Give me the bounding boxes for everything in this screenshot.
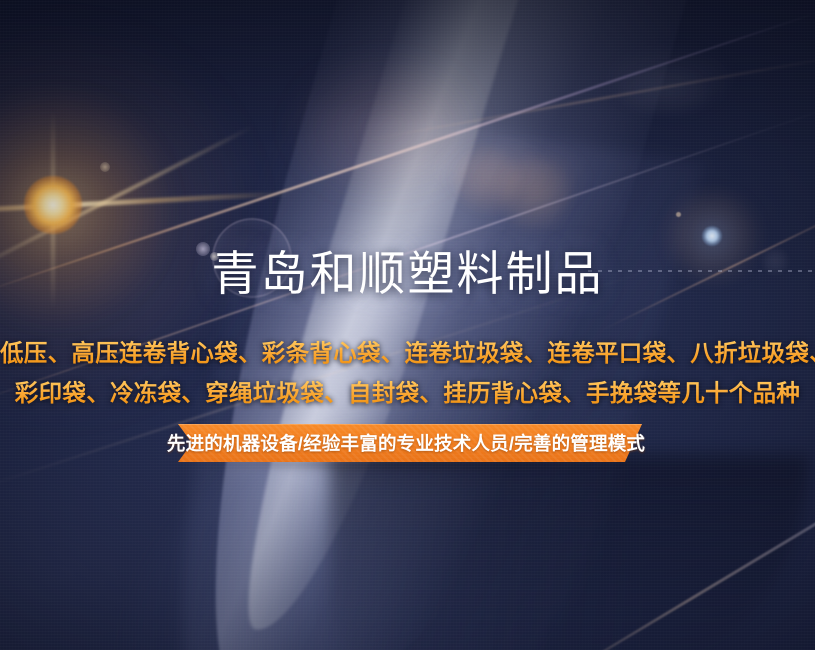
company-title: 青岛和顺塑料制品 <box>0 246 815 302</box>
promo-banner: 青岛和顺塑料制品 低压、高压连卷背心袋、彩条背心袋、连卷垃圾袋、连卷平口袋、八折… <box>0 0 815 650</box>
feature-ribbon: 先进的机器设备/经验丰富的专业技术人员/完善的管理模式 <box>162 424 652 470</box>
ribbon-label: 先进的机器设备/经验丰富的专业技术人员/完善的管理模式 <box>162 424 642 462</box>
product-list-line-1: 低压、高压连卷背心袋、彩条背心袋、连卷垃圾袋、连卷平口袋、八折垃圾袋、 <box>0 337 815 369</box>
product-list-line-2: 彩印袋、冷冻袋、穿绳垃圾袋、自封袋、挂历背心袋、手挽袋等几十个品种 <box>0 377 815 409</box>
vignette-overlay <box>0 0 815 650</box>
